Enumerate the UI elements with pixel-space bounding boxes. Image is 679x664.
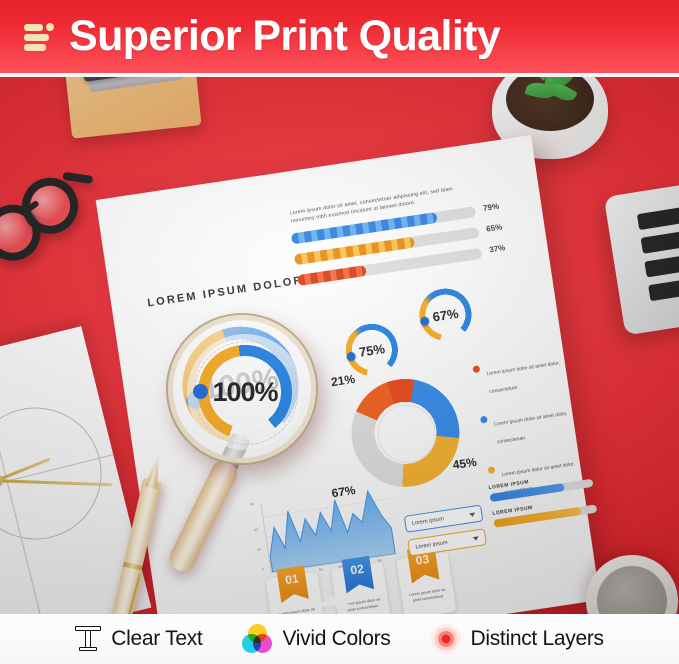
desk-scene: LOREM IPSUM DOLOR Lorem ipsum dolor sit …	[0, 77, 679, 614]
chevron-down-icon	[469, 512, 476, 517]
banner-title: Superior Print Quality	[69, 15, 500, 58]
card-number: 01	[276, 565, 309, 603]
card-number: 02	[342, 556, 375, 594]
legend-item: Lorem ipsum dolor sit amet dolor, consec…	[472, 349, 576, 399]
card-item[interactable]: 02 Lorem ipsum dolor sit amet consectetu…	[331, 562, 391, 614]
donut-chart: 21% 45% 67% Lorem ipsum dolor sit amet d…	[344, 371, 467, 494]
stacked-bars-icon	[24, 21, 58, 55]
bar-percent: 65%	[486, 222, 503, 233]
gauge-value: 67%	[412, 282, 478, 348]
text-glyph-icon	[75, 626, 101, 653]
feature-distinct-layers: Distinct Layers	[431, 624, 604, 654]
bar-chart: Lorem ipsum dolor sit amet, consectetuer…	[291, 200, 528, 296]
magnified-gauge-value: 100%	[187, 334, 303, 450]
legend-item: Lorem ipsum dolor sit amet dolor, consec…	[480, 400, 584, 450]
card-item[interactable]: 01 Lorem ipsum dolor sit amet consectetu…	[266, 571, 326, 614]
page-title: LOREM IPSUM DOLOR	[147, 274, 305, 309]
legend-color-dot	[472, 365, 480, 373]
magnifier-lens: 100%	[168, 315, 316, 463]
feature-clear-text: Clear Text	[75, 626, 202, 653]
header-banner: Superior Print Quality	[0, 0, 679, 73]
feature-label: Vivid Colors	[282, 627, 390, 651]
legend-color-dot	[480, 416, 488, 424]
feature-vivid-colors: Vivid Colors	[242, 624, 390, 654]
area-chart-path	[260, 484, 397, 572]
legend-color-dot	[487, 466, 495, 474]
gauge-chart-tertiary: 67%	[412, 282, 478, 348]
bar-percent: 37%	[489, 243, 506, 254]
dropdown-blue[interactable]: Lorem ipsum	[404, 505, 484, 533]
card-text: Lorem ipsum dolor sit amet consectetuer	[408, 587, 447, 605]
legend-label: Lorem ipsum dolor sit amet dolor, consec…	[494, 411, 568, 446]
color-wheel-icon	[242, 624, 272, 654]
mug	[586, 555, 678, 614]
bar-percent: 79%	[483, 202, 500, 213]
eyeglasses	[0, 165, 113, 287]
notch-triangle	[316, 596, 352, 606]
dropdown-value: Lorem ipsum	[411, 512, 469, 527]
dropdown-value: Lorem ipsum	[415, 536, 473, 551]
product-image: Superior Print Quality	[0, 0, 679, 664]
donut-segment-label: 21%	[330, 372, 356, 389]
card-text: Lorem ipsum dolor sit amet consectetuer	[278, 606, 317, 614]
laptop-keyboard	[604, 178, 679, 335]
donut-segment-label: 45%	[452, 455, 478, 472]
feature-label: Distinct Layers	[471, 627, 604, 651]
concentric-rings-icon	[431, 624, 461, 654]
card-item[interactable]: 03 Lorem ipsum dolor sit amet consectetu…	[396, 552, 456, 614]
legend-label: Lorem ipsum dolor sit amet dolor, consec…	[486, 360, 560, 395]
feature-label: Clear Text	[111, 627, 202, 651]
chevron-down-icon	[473, 536, 480, 541]
feature-footer: Clear Text Vivid Colors Distinct Layers	[0, 614, 679, 664]
